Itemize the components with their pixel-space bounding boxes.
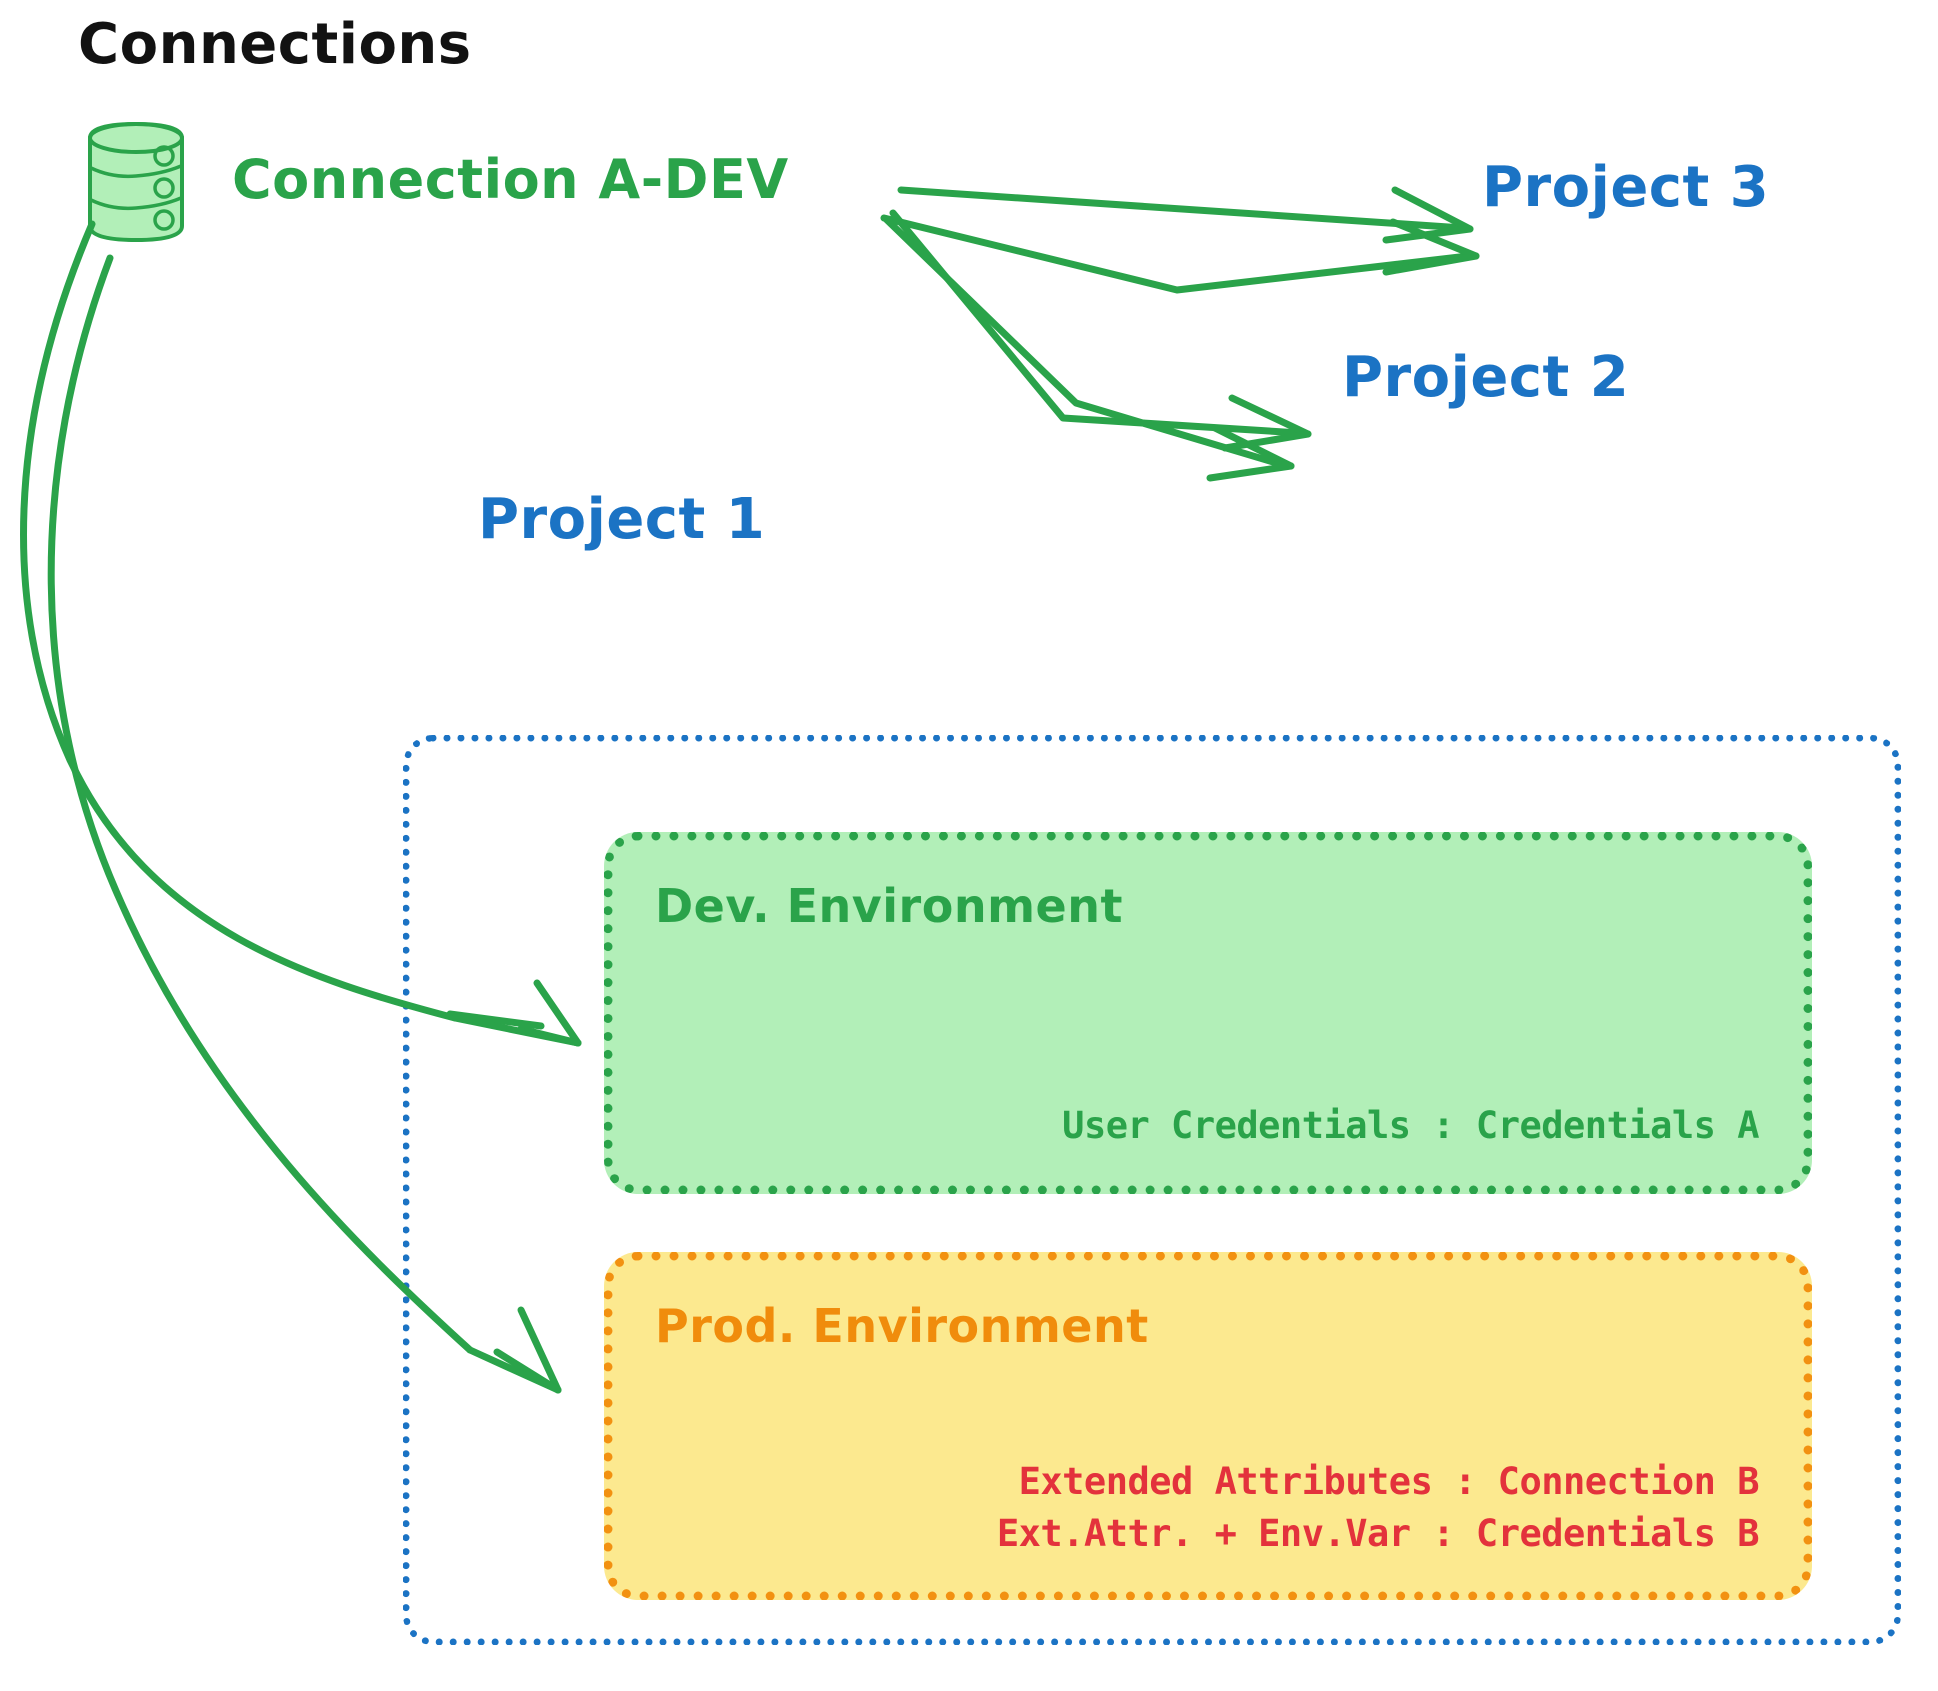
dev-environment-details: User Credentials : Credentials A xyxy=(1062,1100,1759,1153)
prod-environment-box: Prod. Environment Extended Attributes : … xyxy=(604,1252,1812,1600)
prod-environment-title: Prod. Environment xyxy=(655,1299,1149,1353)
dev-user-credentials-line: User Credentials : Credentials A xyxy=(1062,1100,1759,1153)
prod-environment-details: Extended Attributes : Connection B Ext.A… xyxy=(997,1456,1759,1561)
dev-environment-title: Dev. Environment xyxy=(655,879,1123,933)
diagram-canvas: Connections Connection A-DEV Project 3 P… xyxy=(0,0,1938,1691)
arrow-conn-to-project2-a xyxy=(893,213,1308,448)
project-1-label: Project 1 xyxy=(478,487,765,552)
database-cylinder-icon xyxy=(82,120,190,244)
prod-extended-attributes-line: Extended Attributes : Connection B xyxy=(997,1456,1759,1509)
project-3-label: Project 3 xyxy=(1482,155,1769,220)
arrow-conn-to-project3-a xyxy=(901,190,1470,240)
page-title: Connections xyxy=(78,12,472,77)
dev-environment-box: Dev. Environment User Credentials : Cred… xyxy=(604,832,1812,1194)
project-2-label: Project 2 xyxy=(1342,345,1629,410)
arrow-conn-to-project2-b xyxy=(886,219,1291,478)
connection-a-dev-label: Connection A-DEV xyxy=(232,148,789,211)
prod-ext-attr-env-var-line: Ext.Attr. + Env.Var : Credentials B xyxy=(997,1508,1759,1561)
arrow-conn-to-project3-b xyxy=(884,218,1476,290)
